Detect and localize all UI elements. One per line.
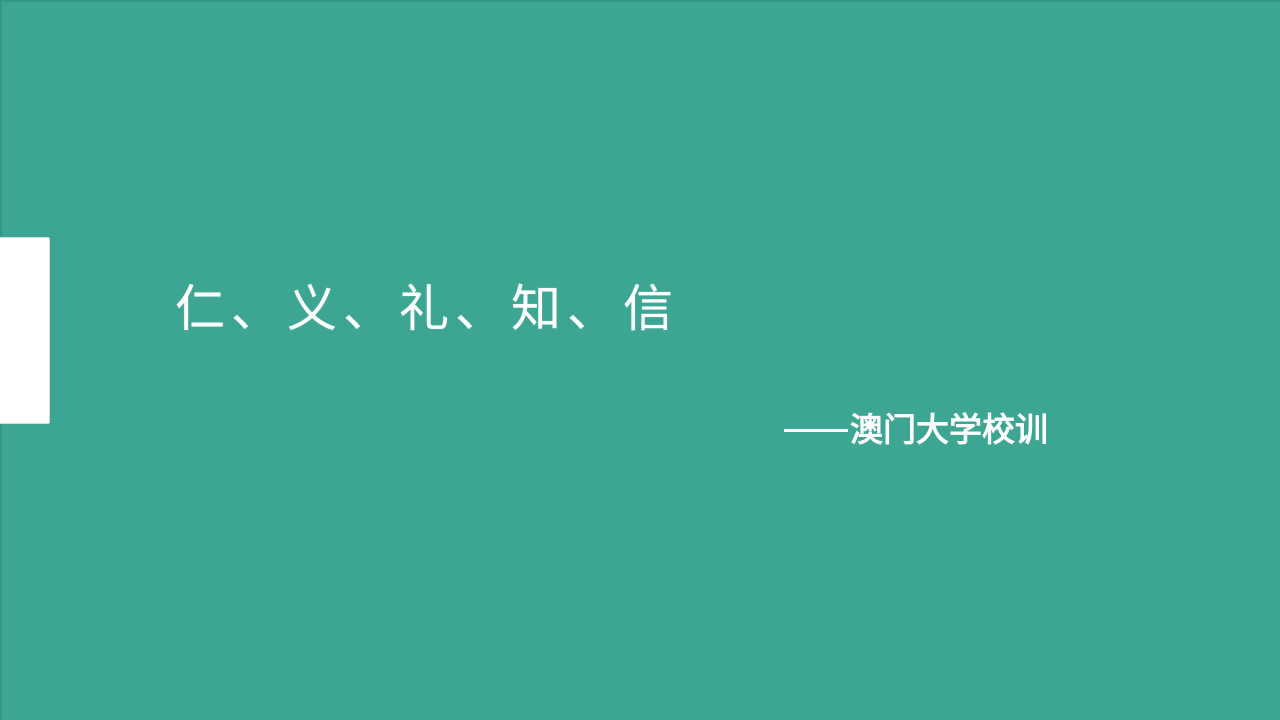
attribution-line: 澳门大学校训 xyxy=(784,410,1048,450)
em-dash-rule xyxy=(784,429,848,432)
left-accent-block xyxy=(0,238,49,423)
slide-top-edge-rule xyxy=(0,0,1280,2)
presentation-slide: 仁、义、礼、知、信 澳门大学校训 xyxy=(0,0,1280,720)
attribution-source-label: 澳门大学校训 xyxy=(850,410,1048,450)
slide-motto-text: 仁、义、礼、知、信 xyxy=(175,281,679,337)
